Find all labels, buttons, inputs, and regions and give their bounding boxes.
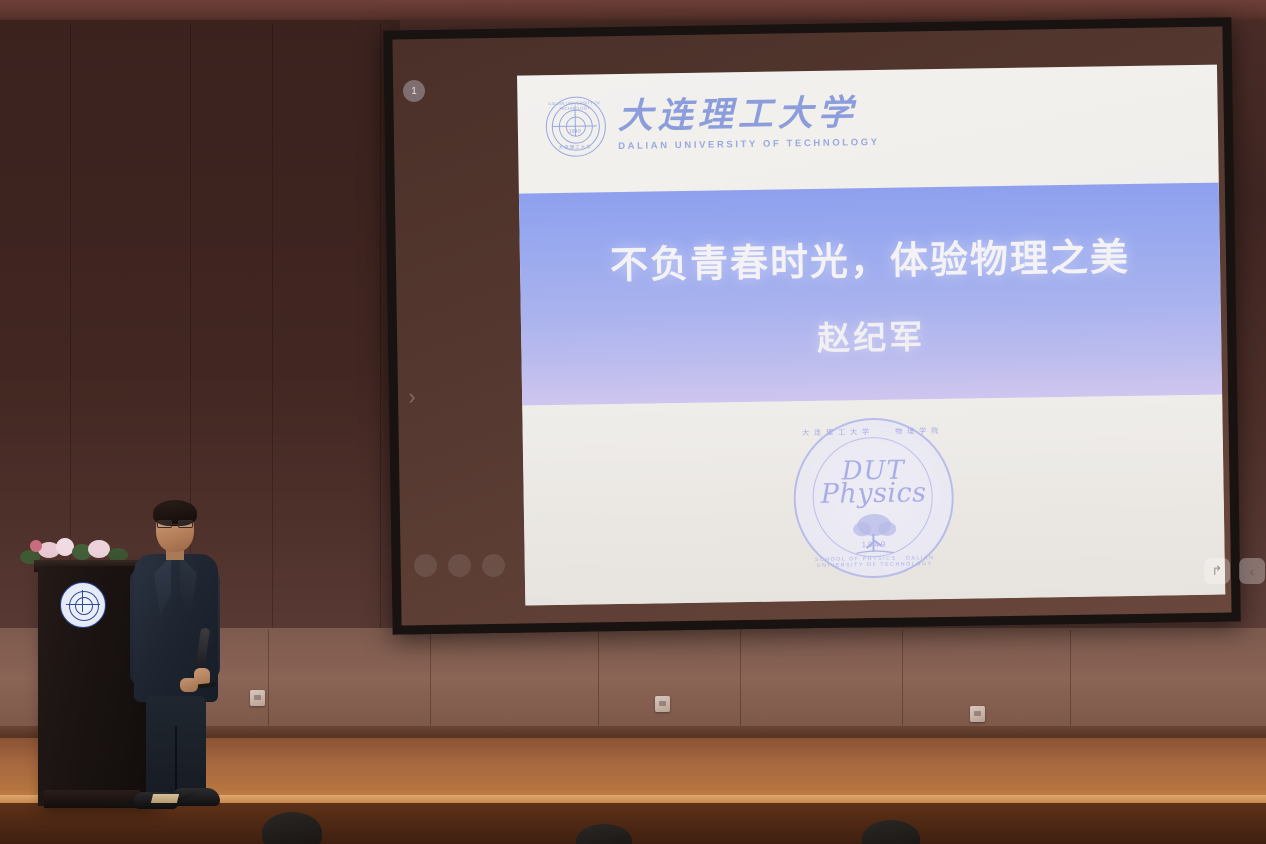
wall-lower-seam [430,630,431,738]
page-number-badge[interactable]: 1 [403,80,425,102]
podium-dut-emblem-icon [60,582,106,628]
player-dot-1[interactable] [414,554,437,577]
physics-seal-physics: Physics [795,477,951,510]
wall-lower-seam [268,630,269,738]
slide-title: 不负青春时光，体验物理之美 [610,226,1131,289]
seal-arc-bottom: 大连理工大学 [546,144,604,151]
power-outlet [250,690,265,706]
physics-department-seal-icon: 大连理工大学 · 物理学院 DUT Physics 1949 [792,417,954,579]
screen-surface: DALIAN UNIVERSITY OF TECHNOLOGY 1949 大连理… [392,27,1231,626]
wall-seam [272,24,273,660]
player-dot-2[interactable] [448,554,471,577]
university-name: 大连理工大学 DALIAN UNIVERSITY OF TECHNOLOGY [617,94,879,151]
university-logo-row: DALIAN UNIVERSITY OF TECHNOLOGY 1949 大连理… [545,92,879,155]
speaker-left-hand [180,678,198,692]
lecture-hall-scene: DALIAN UNIVERSITY OF TECHNOLOGY 1949 大连理… [0,0,1266,844]
glasses-icon [156,520,194,528]
speaker-person [128,500,224,812]
player-dot-controls[interactable] [414,554,505,577]
slide-header: DALIAN UNIVERSITY OF TECHNOLOGY 1949 大连理… [517,65,1219,194]
slide-title-band: 不负青春时光，体验物理之美 赵纪军 [519,183,1222,406]
tree-icon [844,512,905,557]
projection-screen: DALIAN UNIVERSITY OF TECHNOLOGY 1949 大连理… [383,17,1240,634]
university-name-cn: 大连理工大学 [617,94,879,133]
university-name-en: DALIAN UNIVERSITY OF TECHNOLOGY [618,136,880,151]
seal-arc-top: DALIAN UNIVERSITY OF TECHNOLOGY [545,100,603,111]
wall-lower-seam [598,630,599,738]
slide-footer: 大连理工大学 · 物理学院 DUT Physics 1949 [522,395,1225,606]
wall-seam [380,24,381,660]
dut-seal-icon: DALIAN UNIVERSITY OF TECHNOLOGY 1949 大连理… [545,96,604,155]
physics-seal-arc-cn: 大连理工大学 · 物理学院 [795,426,951,438]
player-right-controls[interactable]: ↱ ‹ [1204,558,1265,584]
power-outlet [655,696,670,712]
player-dot-3[interactable] [482,554,505,577]
share-icon[interactable]: ↱ [1204,558,1230,584]
presentation-slide: DALIAN UNIVERSITY OF TECHNOLOGY 1949 大连理… [517,65,1225,606]
wall-lower-seam [740,630,741,738]
physics-seal-wordmark: DUT Physics [795,455,952,510]
physics-seal-year: 1949 [796,539,952,550]
seal-year: 1949 [546,128,604,135]
floor-wedge-block [151,794,179,803]
power-outlet [970,706,985,722]
slide-author: 赵纪军 [817,310,926,360]
wall-lower-seam [902,630,903,738]
previous-icon[interactable]: ‹ [1239,558,1265,584]
wall-lower-seam [1070,630,1071,738]
physics-seal-arc-en: SCHOOL OF PHYSICS · DALIAN UNIVERSITY OF… [797,555,953,569]
chevron-right-icon[interactable]: › [402,383,422,411]
